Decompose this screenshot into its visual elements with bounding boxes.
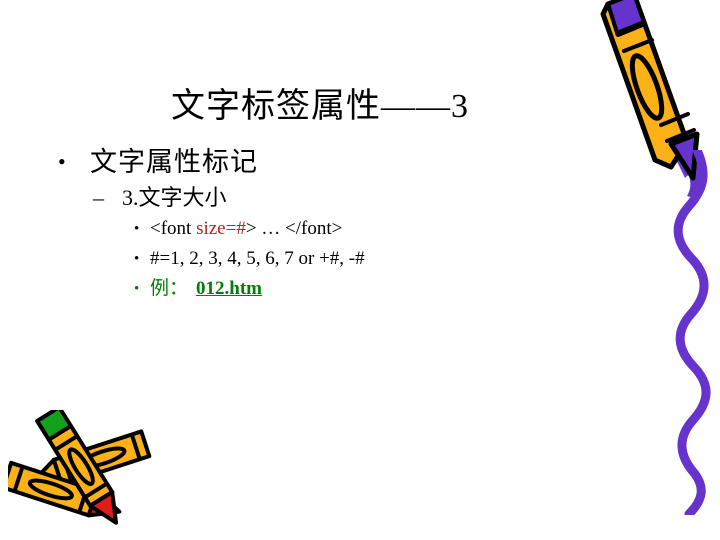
bullet-level3-example: • 例：012.htm bbox=[0, 274, 600, 304]
bullet-marker-icon: • bbox=[134, 244, 139, 274]
bullet-marker-icon: • bbox=[58, 143, 67, 181]
presentation-slide: 文字标签属性——3 • 文字属性标记 – 3.文字大小 • <font size… bbox=[0, 0, 720, 540]
font-tag-prefix: <font bbox=[150, 218, 196, 239]
bullet-level3-size-values: • #=1, 2, 3, 4, 5, 6, 7 or +#, -# bbox=[0, 244, 600, 274]
size-values-label: #=1, 2, 3, 4, 5, 6, 7 or +#, -# bbox=[150, 248, 365, 269]
bullet-level2: – 3.文字大小 bbox=[0, 181, 600, 214]
bullet-level3-font-syntax: • <font size=#> … </font> bbox=[0, 214, 600, 244]
bullet-marker-icon: • bbox=[134, 274, 139, 304]
bullet-level2-label: 3.文字大小 bbox=[122, 185, 227, 210]
slide-body: • 文字属性标记 – 3.文字大小 • <font size=#> … </fo… bbox=[0, 143, 600, 304]
font-size-attribute-highlight: size=# bbox=[196, 218, 246, 239]
dash-marker-icon: – bbox=[93, 181, 104, 214]
crossed-crayons-icon bbox=[8, 410, 173, 530]
bullet-level1-label: 文字属性标记 bbox=[90, 147, 258, 177]
example-label: 例： bbox=[150, 278, 188, 299]
wavy-line-icon bbox=[645, 150, 720, 515]
font-tag-suffix: > … </font> bbox=[246, 218, 343, 239]
example-hyperlink[interactable]: 012.htm bbox=[196, 278, 262, 299]
bullet-level1: • 文字属性标记 bbox=[0, 143, 600, 181]
page-title: 文字标签属性——3 bbox=[0, 86, 640, 128]
purple-squiggle-decoration bbox=[645, 150, 720, 520]
bullet-marker-icon: • bbox=[134, 214, 139, 244]
crayons-illustration-bottom-left bbox=[8, 410, 173, 535]
